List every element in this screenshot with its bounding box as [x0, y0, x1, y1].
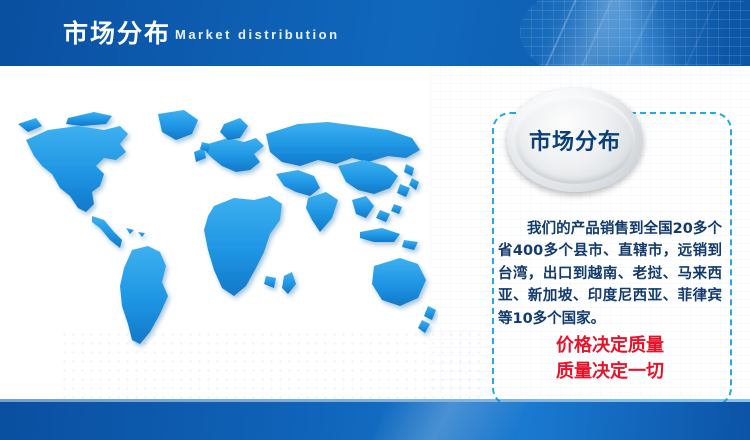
map-landmasses [18, 110, 436, 344]
world-map [8, 100, 438, 375]
panel-body-text: 我们的产品销售到全国20多个省400多个县市、直辖市，远销到台湾，出口到越南、老… [498, 218, 722, 330]
slogan: 价格决定质量 质量决定一切 [498, 333, 722, 385]
globe-icon [520, 0, 750, 66]
page-title-cn: 市场分布 [63, 14, 171, 50]
header-streak [545, 0, 576, 66]
badge-label: 市场分布 [529, 124, 621, 156]
page-title-en: Market distribution [175, 27, 340, 42]
slide: 市场分布 Market distribution [0, 0, 750, 440]
header-streak [685, 0, 716, 66]
slogan-line-1: 价格决定质量 [498, 333, 722, 359]
slogan-line-2: 质量决定一切 [498, 359, 722, 385]
badge-circle: 市场分布 [507, 88, 643, 192]
header-streak [581, 0, 612, 66]
slide-header: 市场分布 Market distribution [0, 0, 750, 66]
slide-footer [0, 402, 750, 440]
badge-inner: 市场分布 [515, 96, 635, 184]
header-streak [625, 0, 657, 66]
